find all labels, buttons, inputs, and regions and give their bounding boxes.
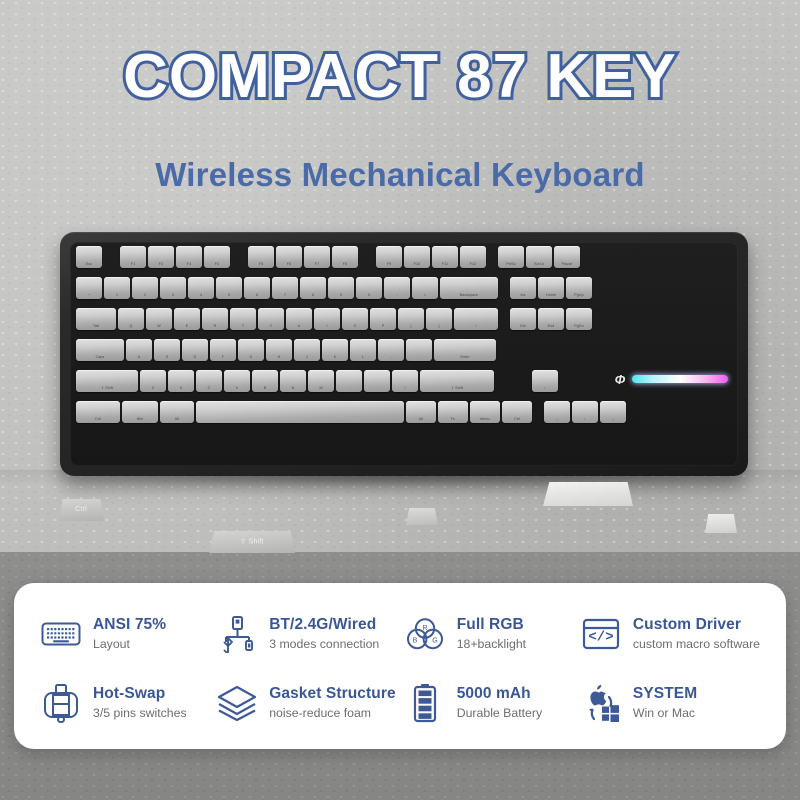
keyboard-key[interactable]: Alt bbox=[406, 401, 436, 423]
keyboard-row: ~1234567890-=BackspaceInsHomePgUp bbox=[76, 277, 592, 299]
battery-icon bbox=[404, 682, 446, 724]
loose-keycap-shift: ⇧ Shift bbox=[209, 531, 295, 553]
keyboard-key[interactable]: F10 bbox=[404, 246, 430, 268]
keyboard-key-label: F9 bbox=[376, 263, 402, 267]
loose-keycap-label: Ctrl bbox=[58, 506, 104, 513]
keyboard-key-label: Y bbox=[258, 325, 284, 329]
keyboard-key-label: O bbox=[342, 325, 368, 329]
keyboard-row: CtrlWinAltAltFnMenuCtrl←↓→ bbox=[76, 401, 626, 423]
feature-item: R B GFull RGB18+backlight bbox=[404, 607, 572, 660]
keyboard-key-label: F11 bbox=[432, 263, 458, 267]
keyboard-key[interactable]: Caps bbox=[76, 339, 124, 361]
keyboard-key[interactable]: H bbox=[266, 339, 292, 361]
keyboard-key[interactable]: F3 bbox=[176, 246, 202, 268]
brand-logo-icon: Φ bbox=[612, 373, 628, 387]
feature-item: 5000 mAhDurable Battery bbox=[404, 676, 572, 729]
keyboard-key[interactable]: T bbox=[230, 308, 256, 330]
keyboard-plate: EscF1F2F3F4F5F6F7F8F9F10F11F12PrtScScrLk… bbox=[70, 242, 738, 466]
feature-item: BT/2.4G/Wired3 modes connection bbox=[216, 607, 396, 660]
keyboard-key[interactable]: 9 bbox=[328, 277, 354, 299]
keyboard-key[interactable]: U bbox=[286, 308, 312, 330]
keyboard-key[interactable]: 8 bbox=[300, 277, 326, 299]
keyboard-key-label: U bbox=[286, 325, 312, 329]
keyboard-key-label: ⇧ Shift bbox=[76, 387, 138, 391]
keyboard-row-gap bbox=[232, 246, 246, 268]
keyboard-key-label: Home bbox=[538, 294, 564, 298]
keyboard-key-label: Alt bbox=[160, 418, 194, 422]
keyboard-key[interactable]: F6 bbox=[276, 246, 302, 268]
keyboard-key[interactable]: L bbox=[350, 339, 376, 361]
keyboard-key[interactable]: B bbox=[252, 370, 278, 392]
keyboard-key[interactable]: C bbox=[196, 370, 222, 392]
keyboard-key-label: Ins bbox=[510, 294, 536, 298]
keyboard-key[interactable]: Backspace bbox=[440, 277, 498, 299]
keyboard-key[interactable]: F12 bbox=[460, 246, 486, 268]
feature-highlight-card: ANSI 75%Layout BT/2.4G/Wired3 modes conn… bbox=[14, 583, 786, 749]
keyboard-key-label: D bbox=[182, 356, 208, 360]
keyboard-key[interactable]: 2 bbox=[132, 277, 158, 299]
svg-text:G: G bbox=[432, 637, 437, 644]
keyboard-key-label: F5 bbox=[248, 263, 274, 267]
keyboard-key[interactable]: F8 bbox=[332, 246, 358, 268]
keyboard-key[interactable]: ; bbox=[378, 339, 404, 361]
keyboard-key-label: F1 bbox=[120, 263, 146, 267]
keyboard-key-label: 1 bbox=[104, 294, 130, 298]
feature-text: Hot-Swap3/5 pins switches bbox=[93, 685, 187, 720]
feature-title: Custom Driver bbox=[633, 616, 760, 634]
keyboard-key[interactable]: - bbox=[384, 277, 410, 299]
keyboard-key[interactable]: Fn bbox=[438, 401, 468, 423]
feature-subtitle: Durable Battery bbox=[457, 706, 542, 720]
keyboard-key-label: Backspace bbox=[440, 294, 498, 298]
keyboard-row-gap bbox=[496, 370, 530, 392]
keyboard-key-label: F2 bbox=[148, 263, 174, 267]
keyboard-key[interactable]: PgUp bbox=[566, 277, 592, 299]
keyboard-key-label: Tab bbox=[76, 325, 116, 329]
keyboard-key-label: W bbox=[146, 325, 172, 329]
keyboard-key-label: Esc bbox=[76, 263, 102, 267]
rgb-venn-icon: R B G bbox=[404, 613, 446, 655]
keyboard-key[interactable]: W bbox=[146, 308, 172, 330]
feature-title: Full RGB bbox=[457, 616, 526, 634]
keyboard-row: TabQWERTYUIOP[]\DelEndPgDn bbox=[76, 308, 592, 330]
keyboard-row: EscF1F2F3F4F5F6F7F8F9F10F11F12PrtScScrLk… bbox=[76, 246, 580, 268]
keyboard-key[interactable]: D bbox=[182, 339, 208, 361]
keyboard-key-label: F7 bbox=[304, 263, 330, 267]
keyboard-key-label: K bbox=[322, 356, 348, 360]
keyboard-key-label: → bbox=[600, 418, 626, 422]
page-title: COMPACT 87 KEY bbox=[0, 46, 800, 108]
keyboard-key[interactable]: PrtSc bbox=[498, 246, 524, 268]
keyboard-key-label: X bbox=[168, 387, 194, 391]
os-apple-windows-icon bbox=[580, 682, 622, 724]
keyboard-key[interactable]: X bbox=[168, 370, 194, 392]
keyboard-key-label: Caps bbox=[76, 356, 124, 360]
loose-keycap-blank-2 bbox=[543, 482, 633, 506]
keyboard-key[interactable]: M bbox=[308, 370, 334, 392]
keyboard-key[interactable]: / bbox=[392, 370, 418, 392]
keyboard-key-label: ⇧ Shift bbox=[420, 387, 494, 391]
keyboard-key-label: F3 bbox=[176, 263, 202, 267]
keyboard-key-label: [ bbox=[398, 325, 424, 329]
keyboard-row-gap bbox=[488, 246, 496, 268]
keyboard-key-label: F4 bbox=[204, 263, 230, 267]
keyboard-key-label: . bbox=[364, 387, 390, 391]
keyboard-key-label: , bbox=[336, 387, 362, 391]
page-subtitle: Wireless Mechanical Keyboard bbox=[0, 156, 800, 194]
keyboard-key[interactable]: F4 bbox=[204, 246, 230, 268]
keyboard-key-label: 6 bbox=[244, 294, 270, 298]
keyboard-key[interactable]: ~ bbox=[76, 277, 102, 299]
keyboard-key-label: T bbox=[230, 325, 256, 329]
keyboard-key-label: J bbox=[294, 356, 320, 360]
loose-keycap-ctrl: Ctrl bbox=[58, 499, 104, 521]
keyboard-key[interactable]: Menu bbox=[470, 401, 500, 423]
keyboard-key[interactable]: ' bbox=[406, 339, 432, 361]
keyboard-key[interactable]: Alt bbox=[160, 401, 194, 423]
keyboard-key-label: A bbox=[126, 356, 152, 360]
feature-item: ANSI 75%Layout bbox=[40, 607, 208, 660]
keyboard-key[interactable]: P bbox=[370, 308, 396, 330]
keyboard-row-gap bbox=[500, 308, 508, 330]
keyboard-key[interactable]: Y bbox=[258, 308, 284, 330]
feature-text: 5000 mAhDurable Battery bbox=[457, 685, 542, 720]
keyboard-key[interactable]: E bbox=[174, 308, 200, 330]
code-window-icon: </> bbox=[580, 613, 622, 655]
keyboard-key-label: End bbox=[538, 325, 564, 329]
keyboard-key-label: F8 bbox=[332, 263, 358, 267]
keyboard-key[interactable]: F2 bbox=[148, 246, 174, 268]
keyboard-key-label: V bbox=[224, 387, 250, 391]
keyboard-key-label: H bbox=[266, 356, 292, 360]
keyboard-key[interactable]: ⇧ Shift bbox=[420, 370, 494, 392]
feature-text: Custom Drivercustom macro software bbox=[633, 616, 760, 651]
keyboard-key-label: PgUp bbox=[566, 294, 592, 298]
keyboard-key[interactable]: \ bbox=[454, 308, 498, 330]
keyboard-key-label: ] bbox=[426, 325, 452, 329]
keyboard-key-label: ; bbox=[378, 356, 404, 360]
keyboard-key[interactable]: V bbox=[224, 370, 250, 392]
keyboard-key-label: ↓ bbox=[572, 418, 598, 422]
keyboard-key[interactable]: N bbox=[280, 370, 306, 392]
feature-subtitle: Layout bbox=[93, 637, 166, 651]
rgb-lightbar bbox=[632, 375, 728, 383]
keyboard-key-label: F bbox=[210, 356, 236, 360]
keyboard-key[interactable]: S bbox=[154, 339, 180, 361]
keyboard-key-label: 5 bbox=[216, 294, 242, 298]
keyboard-key[interactable]: End bbox=[538, 308, 564, 330]
keyboard-key[interactable]: F9 bbox=[376, 246, 402, 268]
keyboard-key-label: F12 bbox=[460, 263, 486, 267]
keyboard-key-label: / bbox=[392, 387, 418, 391]
keyboard-key-label: Alt bbox=[406, 418, 436, 422]
keyboard-key[interactable]: Del bbox=[510, 308, 536, 330]
loose-keycap-label: ⇧ Shift bbox=[209, 538, 295, 546]
bluetooth-usb-icon bbox=[216, 613, 258, 655]
keyboard-key[interactable]: Ctrl bbox=[502, 401, 532, 423]
keyboard-key-label: Enter bbox=[434, 356, 496, 360]
keyboard-key[interactable]: Pause bbox=[554, 246, 580, 268]
keyboard-key[interactable]: 1 bbox=[104, 277, 130, 299]
feature-item: SYSTEMWin or Mac bbox=[580, 676, 760, 729]
feature-item: </>Custom Drivercustom macro software bbox=[580, 607, 760, 660]
feature-title: 5000 mAh bbox=[457, 685, 542, 703]
keyboard-key[interactable]: ↓ bbox=[572, 401, 598, 423]
keyboard-row-gap bbox=[360, 246, 374, 268]
keyboard-key-label: ScrLk bbox=[526, 263, 552, 267]
keyboard-key[interactable]: → bbox=[600, 401, 626, 423]
keyboard-key[interactable]: = bbox=[412, 277, 438, 299]
svg-text:B: B bbox=[412, 637, 417, 644]
keyboard-key-label: F6 bbox=[276, 263, 302, 267]
keyboard-key[interactable]: G bbox=[238, 339, 264, 361]
keyboard-key-label: = bbox=[412, 294, 438, 298]
keyboard-key[interactable]: ↑ bbox=[532, 370, 558, 392]
keyboard-key[interactable]: Enter bbox=[434, 339, 496, 361]
keyboard-key-label: L bbox=[350, 356, 376, 360]
keyboard-key-label: Menu bbox=[470, 418, 500, 422]
feature-subtitle: 18+backlight bbox=[457, 637, 526, 651]
keyboard-key[interactable]: ⇧ Shift bbox=[76, 370, 138, 392]
keyboard-key-label: 7 bbox=[272, 294, 298, 298]
keyboard-lightbar-zone: Φ bbox=[610, 372, 732, 388]
svg-text:R: R bbox=[422, 624, 427, 631]
keyboard-key[interactable]: . bbox=[364, 370, 390, 392]
keyboard-key-label: N bbox=[280, 387, 306, 391]
keyboard-key[interactable]: Tab bbox=[76, 308, 116, 330]
keyboard-key[interactable]: J bbox=[294, 339, 320, 361]
keyboard-row-gap bbox=[104, 246, 118, 268]
keyboard-key[interactable]: F11 bbox=[432, 246, 458, 268]
keyboard-key-label: P bbox=[370, 325, 396, 329]
keyboard-key-label: E bbox=[174, 325, 200, 329]
keyboard-key-label: PgDn bbox=[566, 325, 592, 329]
keyboard-key-label: Z bbox=[140, 387, 166, 391]
feature-text: SYSTEMWin or Mac bbox=[633, 685, 697, 720]
keyboard-key[interactable]: 3 bbox=[160, 277, 186, 299]
feature-subtitle: noise-reduce foam bbox=[269, 706, 396, 720]
keyboard-row: CapsASDFGHJKL;'Enter bbox=[76, 339, 496, 361]
keyboard-key[interactable]: F1 bbox=[120, 246, 146, 268]
feature-title: BT/2.4G/Wired bbox=[269, 616, 379, 634]
keyboard-key[interactable]: Esc bbox=[76, 246, 102, 268]
keyboard-key[interactable]: ScrLk bbox=[526, 246, 552, 268]
keyboard-key-label: - bbox=[384, 294, 410, 298]
feature-grid: ANSI 75%Layout BT/2.4G/Wired3 modes conn… bbox=[40, 607, 760, 729]
feature-title: Hot-Swap bbox=[93, 685, 187, 703]
keyboard-key[interactable]: F bbox=[210, 339, 236, 361]
keyboard-key[interactable]: PgDn bbox=[566, 308, 592, 330]
keyboard-key-label: S bbox=[154, 356, 180, 360]
keyboard-key[interactable]: F5 bbox=[248, 246, 274, 268]
keyboard-key-label: I bbox=[314, 325, 340, 329]
keyboard-key-label: PrtSc bbox=[498, 263, 524, 267]
keyboard-key-label: Ctrl bbox=[502, 418, 532, 422]
svg-text:</>: </> bbox=[588, 629, 613, 645]
keyboard-key[interactable]: Win bbox=[122, 401, 158, 423]
feature-title: SYSTEM bbox=[633, 685, 697, 703]
keyboard-key-label: M bbox=[308, 387, 334, 391]
keyboard-key[interactable]: , bbox=[336, 370, 362, 392]
keyboard-key[interactable]: ← bbox=[544, 401, 570, 423]
keyboard-key[interactable]: 6 bbox=[244, 277, 270, 299]
loose-keycap-blank-1 bbox=[406, 508, 438, 525]
keyboard-key-label: Q bbox=[118, 325, 144, 329]
keyboard-key[interactable]: O bbox=[342, 308, 368, 330]
loose-keycap-blank-3 bbox=[705, 514, 737, 533]
feature-text: Full RGB18+backlight bbox=[457, 616, 526, 651]
feature-text: Gasket Structurenoise-reduce foam bbox=[269, 685, 396, 720]
keyboard-row-gap bbox=[500, 277, 508, 299]
keyboard-key[interactable]: I bbox=[314, 308, 340, 330]
keyboard-key-label: Fn bbox=[438, 418, 468, 422]
keyboard-key[interactable]: Ins bbox=[510, 277, 536, 299]
keyboard-key[interactable]: F7 bbox=[304, 246, 330, 268]
keyboard-key-label: 9 bbox=[328, 294, 354, 298]
feature-title: Gasket Structure bbox=[269, 685, 396, 703]
keyboard-key[interactable]: ] bbox=[426, 308, 452, 330]
keyboard-key[interactable]: Home bbox=[538, 277, 564, 299]
keyboard-key[interactable]: 5 bbox=[216, 277, 242, 299]
keyboard-key-label: R bbox=[202, 325, 228, 329]
keyboard-key[interactable]: 0 bbox=[356, 277, 382, 299]
keyboard-key-label: 0 bbox=[356, 294, 382, 298]
keyboard-row: ⇧ ShiftZXCVBNM,./⇧ Shift↑ bbox=[76, 370, 558, 392]
keyboard-key[interactable]: R bbox=[202, 308, 228, 330]
feature-item: Hot-Swap3/5 pins switches bbox=[40, 676, 208, 729]
feature-title: ANSI 75% bbox=[93, 616, 166, 634]
keyboard-key-area: EscF1F2F3F4F5F6F7F8F9F10F11F12PrtScScrLk… bbox=[70, 242, 738, 466]
keyboard-key-label: B bbox=[252, 387, 278, 391]
feature-item: Gasket Structurenoise-reduce foam bbox=[216, 676, 396, 729]
feature-text: ANSI 75%Layout bbox=[93, 616, 166, 651]
keyboard-key-label: 4 bbox=[188, 294, 214, 298]
feature-text: BT/2.4G/Wired3 modes connection bbox=[269, 616, 379, 651]
keyboard-key-label: Del bbox=[510, 325, 536, 329]
keyboard-key[interactable]: Q bbox=[118, 308, 144, 330]
keyboard-key-label: 3 bbox=[160, 294, 186, 298]
keyboard-row-gap bbox=[534, 401, 542, 423]
layers-icon bbox=[216, 682, 258, 724]
keyboard-key[interactable]: K bbox=[322, 339, 348, 361]
keyboard-key[interactable]: Z bbox=[140, 370, 166, 392]
product-keyboard: EscF1F2F3F4F5F6F7F8F9F10F11F12PrtScScrLk… bbox=[60, 232, 748, 476]
keyboard-key-label: Pause bbox=[554, 263, 580, 267]
keyboard-key-label: C bbox=[196, 387, 222, 391]
keyboard-key-label: \ bbox=[454, 325, 498, 329]
keyboard-key-label: ' bbox=[406, 356, 432, 360]
feature-subtitle: custom macro software bbox=[633, 637, 760, 651]
keyboard-key[interactable]: A bbox=[126, 339, 152, 361]
keyboard-key[interactable]: Ctrl bbox=[76, 401, 120, 423]
hero-heading-block: COMPACT 87 KEY bbox=[0, 46, 800, 108]
keyboard-key-label: Win bbox=[122, 418, 158, 422]
feature-subtitle: 3 modes connection bbox=[269, 637, 379, 651]
keyboard-key-label: Ctrl bbox=[76, 418, 120, 422]
feature-subtitle: 3/5 pins switches bbox=[93, 706, 187, 720]
switch-icon bbox=[40, 682, 82, 724]
keyboard-key[interactable] bbox=[196, 401, 404, 423]
keyboard-key[interactable]: 7 bbox=[272, 277, 298, 299]
keyboard-key-label: ← bbox=[544, 418, 570, 422]
keyboard-key-label: G bbox=[238, 356, 264, 360]
keyboard-key-label: 2 bbox=[132, 294, 158, 298]
keyboard-key[interactable]: [ bbox=[398, 308, 424, 330]
keyboard-key-label: 8 bbox=[300, 294, 326, 298]
keyboard-icon bbox=[40, 613, 82, 655]
keyboard-key[interactable]: 4 bbox=[188, 277, 214, 299]
keyboard-key-label: F10 bbox=[404, 263, 430, 267]
keyboard-key-label: ~ bbox=[76, 294, 102, 298]
feature-subtitle: Win or Mac bbox=[633, 706, 697, 720]
keyboard-key-label: ↑ bbox=[532, 387, 558, 391]
